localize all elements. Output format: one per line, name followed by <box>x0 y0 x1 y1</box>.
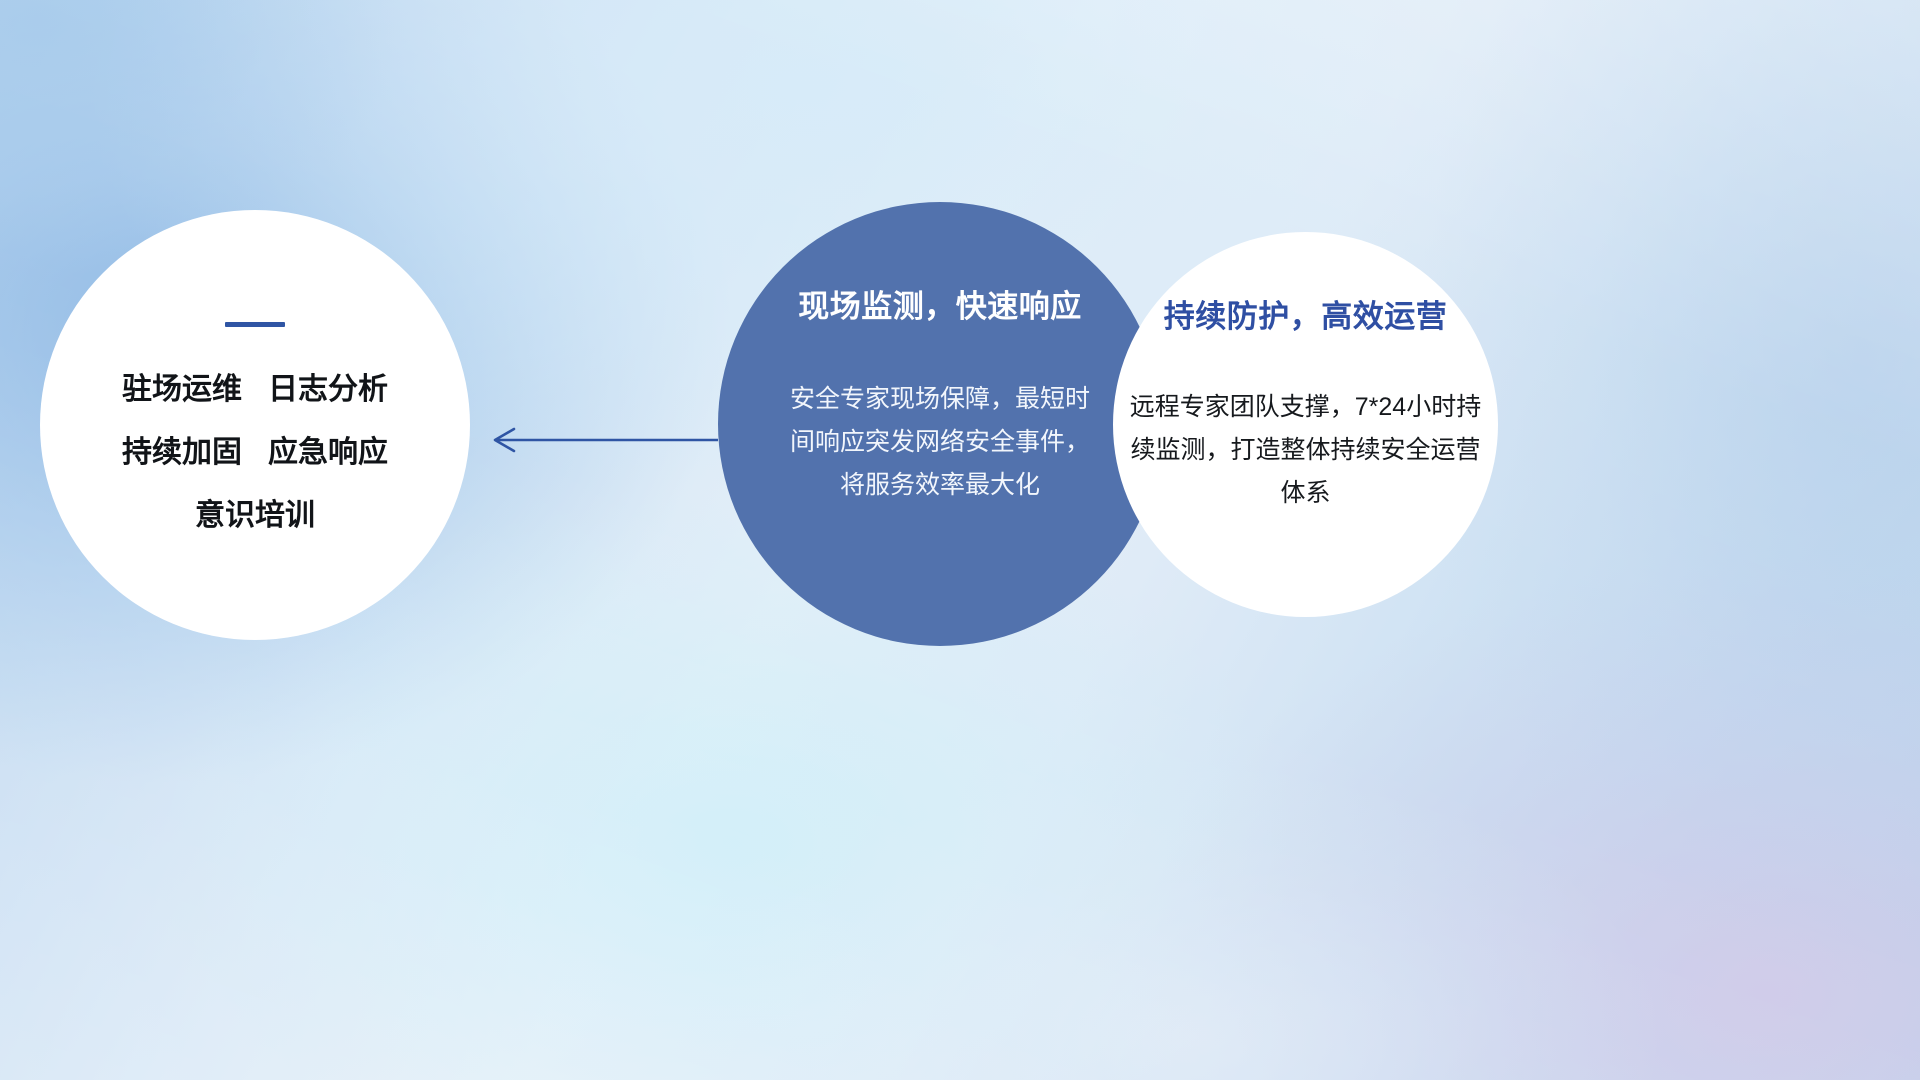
capability-keyword-list: 驻场运维日志分析 持续加固应急响应 意识培训 <box>122 375 388 531</box>
slide-canvas: 驻场运维日志分析 持续加固应急响应 意识培训 现场监测，快速响应 安全专家现场保… <box>0 0 1920 1080</box>
keyword-label: 应急响应 <box>268 436 388 469</box>
continuous-protection-circle: 持续防护，高效运营 远程专家团队支撑，7*24小时持续监测，打造整体持续安全运营… <box>1113 232 1498 617</box>
title-divider-dash <box>225 322 285 327</box>
keyword-label: 日志分析 <box>268 373 388 406</box>
keyword-label: 持续加固 <box>122 436 242 469</box>
keyword-label: 意识培训 <box>195 499 315 532</box>
keyword-label: 驻场运维 <box>122 373 242 406</box>
onsite-monitoring-description: 安全专家现场保障，最短时间响应突发网络安全事件，将服务效率最大化 <box>790 378 1090 507</box>
continuous-protection-description: 远程专家团队支撑，7*24小时持续监测，打造整体持续安全运营体系 <box>1130 386 1482 515</box>
list-item: 持续加固应急响应 <box>122 438 388 468</box>
onsite-capabilities-circle: 驻场运维日志分析 持续加固应急响应 意识培训 <box>40 210 470 640</box>
onsite-monitoring-circle: 现场监测，快速响应 安全专家现场保障，最短时间响应突发网络安全事件，将服务效率最… <box>718 202 1162 646</box>
continuous-protection-title: 持续防护，高效运营 <box>1164 300 1448 334</box>
leftward-arrow-connector <box>480 415 720 465</box>
list-item: 驻场运维日志分析 <box>122 375 388 405</box>
list-item: 意识培训 <box>122 501 388 531</box>
onsite-monitoring-title: 现场监测，快速响应 <box>798 290 1082 324</box>
